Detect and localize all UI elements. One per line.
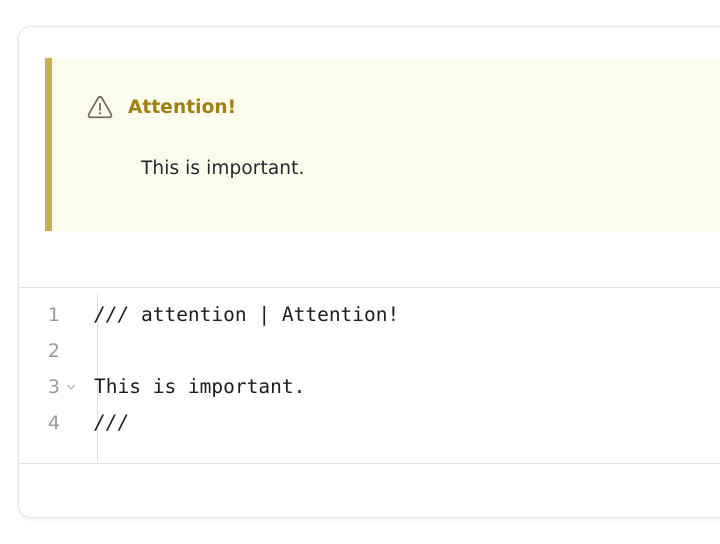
code-line-text[interactable] (79, 341, 106, 361)
preview-card: Attention! This is important. 1/// atten… (18, 26, 720, 518)
line-number: 1 (38, 306, 60, 325)
line-gutter: 3 (19, 369, 79, 405)
line-number: 4 (38, 414, 60, 433)
admonition-accent-bar (45, 58, 52, 231)
chevron-down-icon[interactable] (63, 379, 79, 395)
code-line-row[interactable]: 3This is important. (19, 369, 720, 405)
line-number: 2 (38, 342, 60, 361)
page-canvas: Attention! This is important. 1/// atten… (0, 0, 720, 544)
code-token: This is important. (94, 375, 305, 398)
code-line-row[interactable]: 2 (19, 333, 720, 369)
code-line-row[interactable]: 1/// attention | Attention! (19, 297, 720, 333)
line-number: 3 (38, 378, 60, 397)
code-line-row[interactable]: 4/// (19, 405, 720, 441)
admonition-attention: Attention! This is important. (45, 58, 720, 231)
line-gutter: 1 (19, 297, 79, 333)
code-line-text[interactable]: /// attention | Attention! (79, 305, 399, 325)
admonition-body-text: This is important. (141, 158, 304, 179)
line-gutter: 2 (19, 333, 79, 369)
source-editor-pane[interactable]: 1/// attention | Attention!2 3This is im… (19, 289, 720, 464)
rendered-preview-pane: Attention! This is important. (19, 27, 720, 288)
code-token: attention | Attention! (129, 303, 399, 326)
line-gutter: 4 (19, 405, 79, 441)
admonition-header: Attention! (86, 93, 236, 121)
admonition-title: Attention! (128, 97, 236, 118)
code-fence-token: /// (94, 303, 129, 326)
warning-triangle-icon (86, 93, 114, 121)
code-line-list: 1/// attention | Attention!2 3This is im… (19, 297, 720, 441)
code-line-text[interactable]: /// (79, 413, 129, 433)
code-line-text[interactable]: This is important. (79, 377, 305, 397)
card-footer-strip (19, 465, 720, 518)
code-fence-token: /// (94, 411, 129, 434)
